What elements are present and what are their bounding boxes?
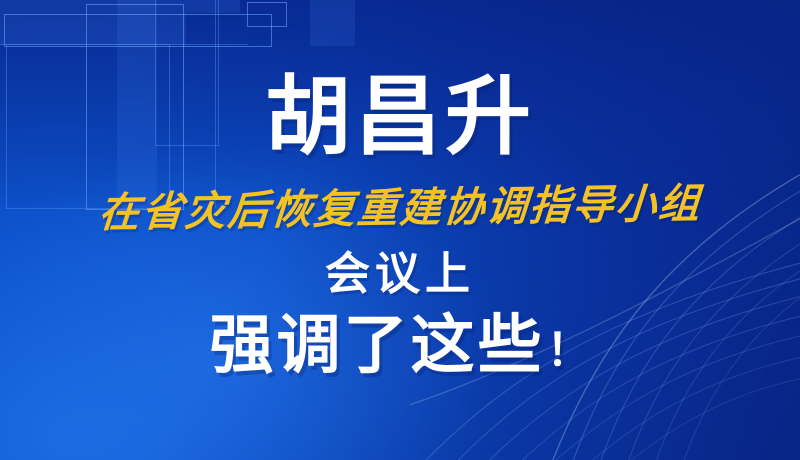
news-banner-poster: 胡昌升 在省灾后恢复重建协调指导小组 会议上 强调了这些 ！: [0, 0, 800, 460]
emphasis-line-group: 强调了这些 ！: [210, 313, 591, 377]
context-line: 会议上: [325, 251, 475, 296]
poster-text-content: 胡昌升 在省灾后恢复重建协调指导小组 会议上 强调了这些 ！: [0, 0, 800, 460]
subtitle-calligraphy: 在省灾后恢复重建协调指导小组: [97, 183, 703, 233]
emphasis-exclamation: ！: [547, 329, 591, 373]
emphasis-line: 强调了这些: [210, 313, 545, 377]
headline-name: 胡昌升: [265, 74, 535, 160]
